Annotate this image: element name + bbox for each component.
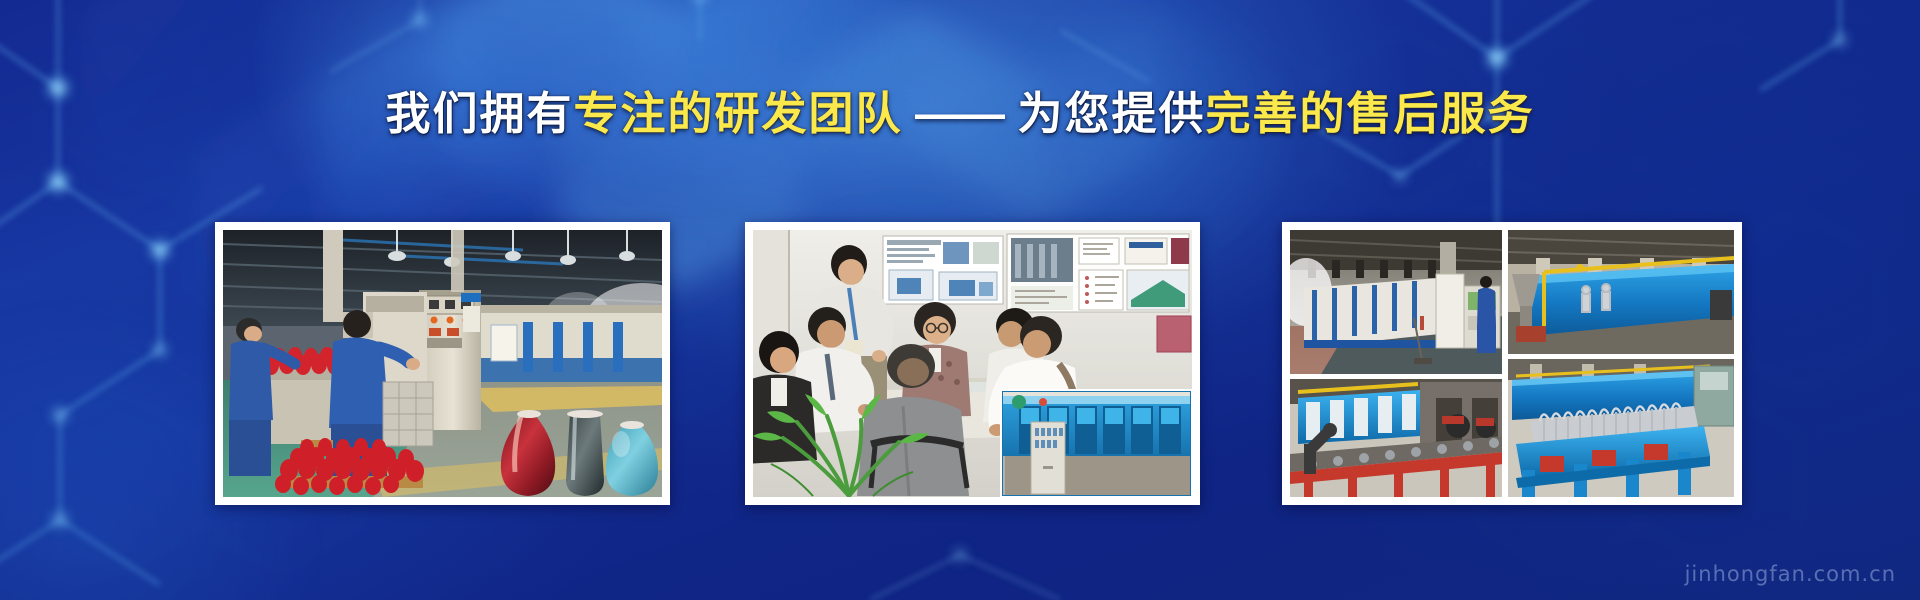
banner-headline: 我们拥有专注的研发团队 —— 为您提供完善的售后服务: [0, 86, 1920, 142]
photo-frame-inner: [223, 230, 662, 497]
photo-panel-equipment-collage[interactable]: [1282, 222, 1742, 505]
photo-panel-rd-team-meeting[interactable]: [745, 222, 1200, 505]
headline-segment-4: 为您提供: [1018, 88, 1206, 139]
rd-team-meeting-photo: [753, 230, 1192, 497]
headline-segment-5: 完善的售后服务: [1206, 88, 1535, 139]
headline-segment-2: 专注的研发团队: [573, 88, 902, 139]
site-watermark: jinhongfan.com.cn: [1685, 562, 1896, 586]
photo-frame-inner: [753, 230, 1192, 497]
factory-production-photo: [223, 230, 662, 497]
photo-panel-production-line[interactable]: [215, 222, 670, 505]
headline-segment-1: 我们拥有: [385, 88, 573, 139]
equipment-collage-photo: [1290, 230, 1734, 497]
headline-separator-dash: ——: [902, 88, 1017, 139]
promo-banner: 我们拥有专注的研发团队 —— 为您提供完善的售后服务: [0, 0, 1920, 600]
photo-frame-inner: [1290, 230, 1734, 497]
